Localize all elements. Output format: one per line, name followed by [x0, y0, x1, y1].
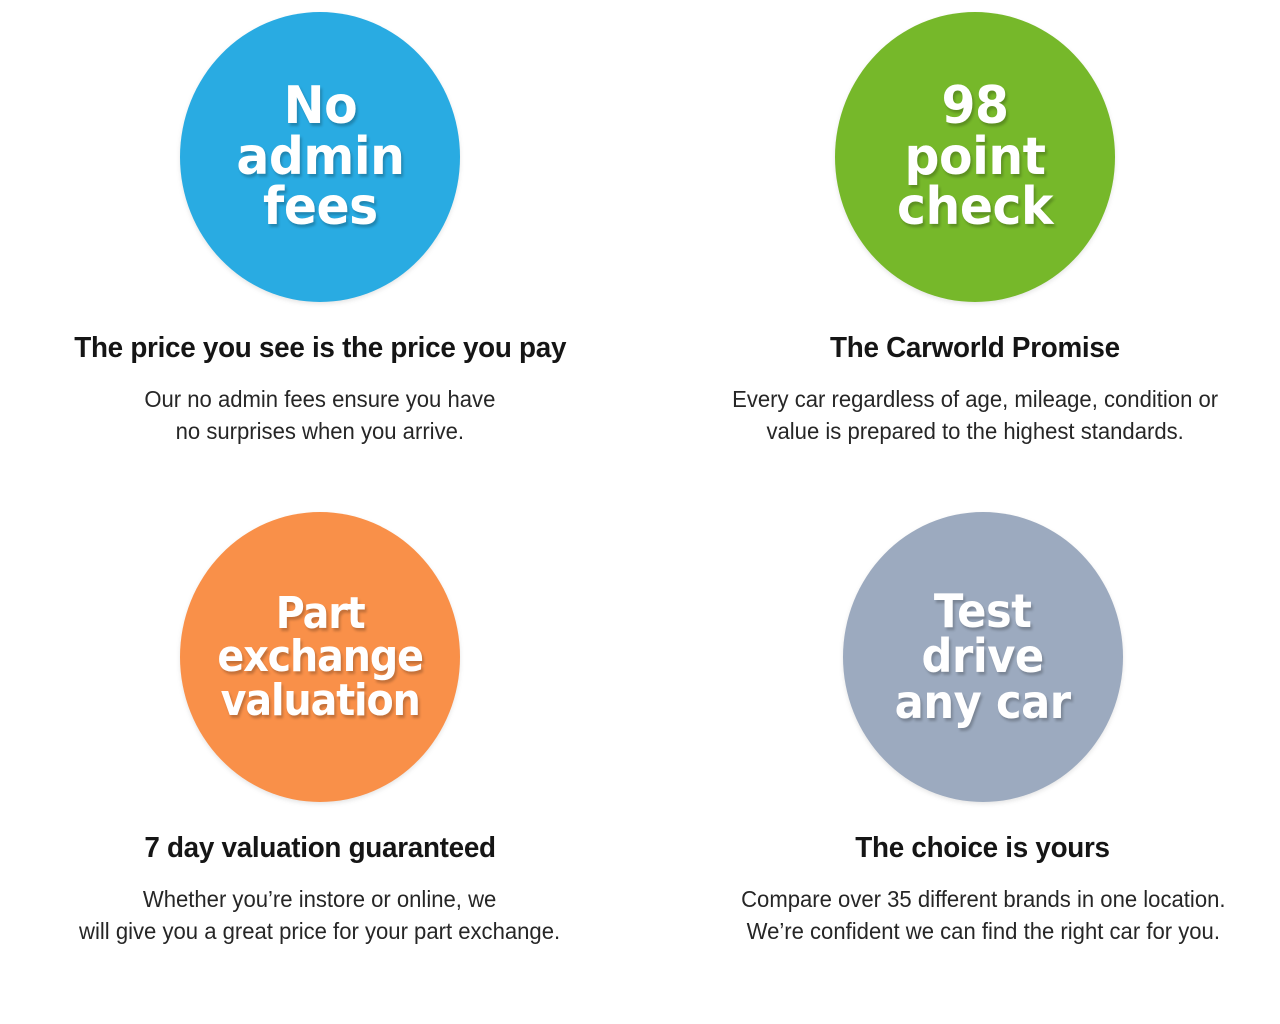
- badge-line: fees: [263, 177, 378, 237]
- badge-label-test-drive-any-car: Test drive any car: [887, 589, 1078, 724]
- card-body-line: Compare over 35 different brands in one …: [741, 883, 1225, 915]
- card-body: Every car regardless of age, mileage, co…: [732, 383, 1218, 447]
- badge-line: check: [897, 177, 1053, 237]
- card-body-line: Whether you’re instore or online, we: [79, 883, 560, 915]
- feature-grid: No admin fees The price you see is the p…: [0, 0, 1280, 1024]
- card-body-line: Every car regardless of age, mileage, co…: [732, 383, 1218, 415]
- feature-card-part-exchange-valuation: Part exchange valuation 7 day valuation …: [0, 512, 640, 1012]
- card-body: Compare over 35 different brands in one …: [741, 883, 1225, 947]
- card-heading: 7 day valuation guaranteed: [144, 832, 495, 865]
- badge-line: any car: [895, 675, 1071, 729]
- badge-label-no-admin-fees: No admin fees: [228, 81, 411, 234]
- feature-card-test-drive-any-car: Test drive any car The choice is yours C…: [640, 512, 1280, 1012]
- badge-98-point-check: 98 point check: [835, 12, 1115, 302]
- feature-card-98-point-check: 98 point check The Carworld Promise Ever…: [640, 12, 1280, 512]
- card-body-line: will give you a great price for your par…: [79, 915, 560, 947]
- card-heading: The Carworld Promise: [830, 332, 1120, 365]
- badge-label-98-point-check: 98 point check: [889, 81, 1060, 234]
- badge-part-exchange-valuation: Part exchange valuation: [180, 512, 460, 802]
- card-body-line: value is prepared to the highest standar…: [732, 415, 1218, 447]
- badge-no-admin-fees: No admin fees: [180, 12, 460, 302]
- badge-test-drive-any-car: Test drive any car: [843, 512, 1123, 802]
- card-body-line: no surprises when you arrive.: [144, 415, 495, 447]
- badge-label-part-exchange-valuation: Part exchange valuation: [210, 592, 430, 721]
- card-body: Our no admin fees ensure you have no sur…: [144, 383, 495, 447]
- feature-card-no-admin-fees: No admin fees The price you see is the p…: [0, 12, 640, 512]
- card-heading: The choice is yours: [856, 832, 1110, 865]
- card-heading: The price you see is the price you pay: [74, 332, 566, 365]
- card-body: Whether you’re instore or online, we wil…: [79, 883, 560, 947]
- badge-line: valuation: [220, 675, 419, 726]
- card-body-line: Our no admin fees ensure you have: [144, 383, 495, 415]
- card-body-line: We’re confident we can find the right ca…: [741, 915, 1225, 947]
